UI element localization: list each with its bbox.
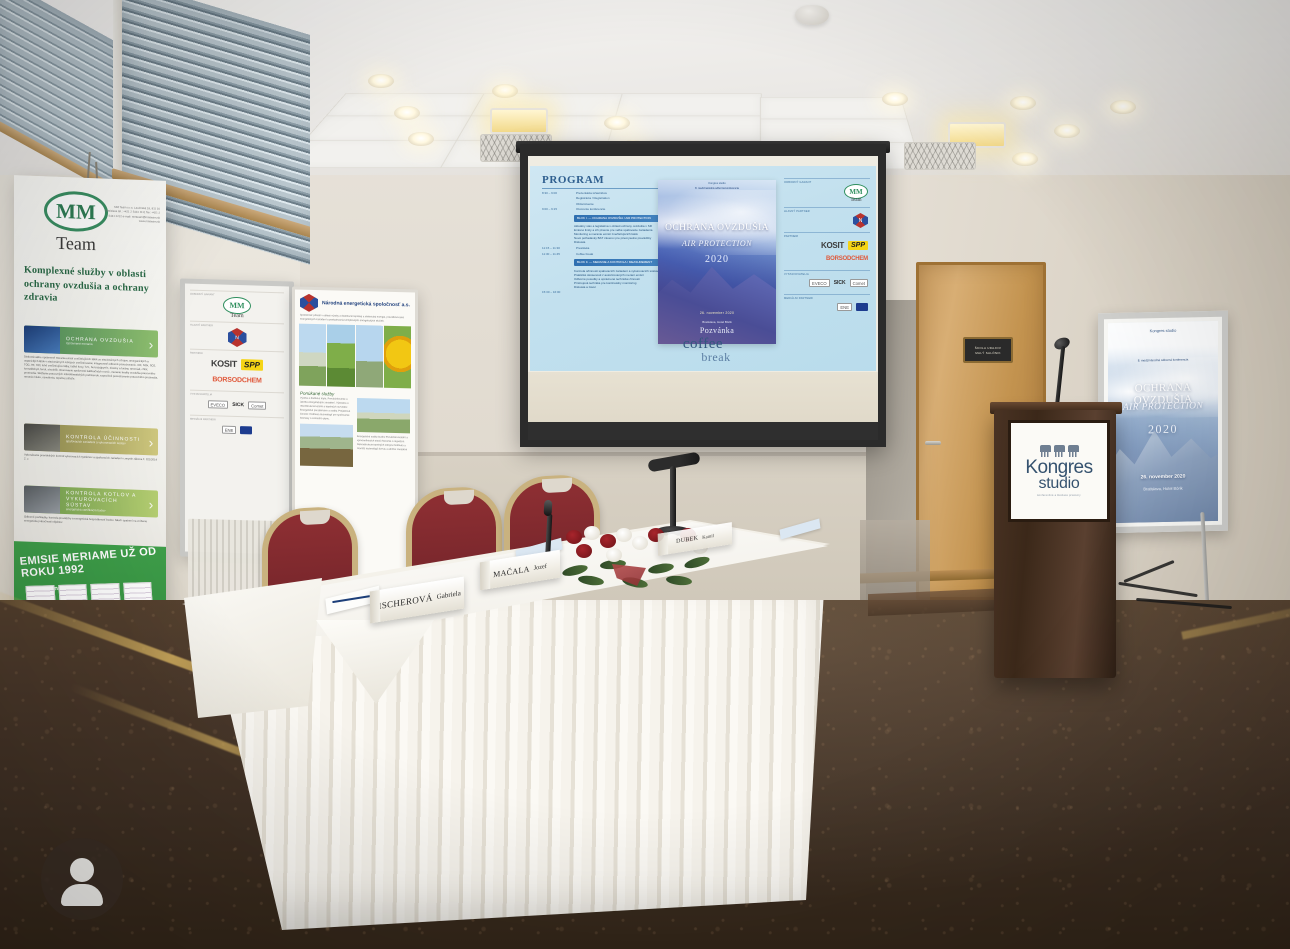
kosit-logo: KOSIT [211,358,237,369]
sponsor-section: MEDIÁLNI PARTNERI ENE [784,294,870,314]
card-fold [370,590,381,623]
ceiling-tile [760,119,915,144]
sponsor-logos: EVECO SICK Comet [784,276,870,290]
mm-logo-word: Team [56,233,96,256]
ceiling-light-panel [490,108,548,134]
program-time: 15:30 – 16:00 [542,291,572,295]
chair-icon [1068,445,1079,457]
name-card-lastname: MAČALA [493,564,530,579]
board-logos: MM Team [190,296,284,321]
chair-back-notch [542,478,572,494]
photo-stack [299,324,326,387]
door-handle[interactable] [925,441,941,445]
sponsor-logos: ENE [784,300,870,314]
banner-section: OCHRANA OVZDUŠIA Oprávnené merania › Dis… [24,325,158,384]
banner-headline: Komplexné služby v oblasti ochrany ovzdu… [24,263,158,309]
nes-columns: Výroba a dodávka tepla. Prevádzkovanie a… [295,397,415,472]
sponsor-section: HLAVNÝ PARTNER N [784,207,870,228]
white-flower [616,528,632,542]
program-time [542,203,572,207]
borsodchem-logo: BORSODCHEM [212,376,261,384]
sponsor-logos: MM Team [784,184,870,203]
section-body: Odborné prehliadky, kontrola prevádzky a… [24,515,158,528]
program-time: 11:15 – 11:30 [542,247,572,251]
person-icon-head [70,858,94,882]
ceiling-spotlight [492,84,518,98]
board-section: ODBORNÝ GARANT MM Team [190,290,284,321]
program-heading: PROGRAM [542,174,604,186]
projection-screen: PROGRAM 8:30 – 9:00 Prezentácia účastník… [528,156,878,440]
leaf [683,555,710,571]
board-logos: ENE [190,421,284,440]
sick-logo: SICK [834,280,846,286]
poster-date: 26. november 2020 [658,311,776,315]
borsodchem-logo: BORSODCHEM [826,256,868,262]
eu-logo [240,426,252,434]
nes-header: Národná energetická spoločnosť a.s. [295,290,415,317]
banner-section-bar: KONTROLA KOTLOV A VYKUROVACÍCH SÚSTAV en… [24,485,158,517]
nes-logo: N [853,213,868,228]
window-mullion [113,0,122,180]
nes-title: Národná energetická spoločnosť a.s. [322,300,410,308]
board-section: HLAVNÝ PARTNER N [190,321,284,349]
door-sign-line-2: MALÝ SALÓNIK [975,351,1001,355]
banner-section: KONTROLA KOTLOV A VYKUROVACÍCH SÚSTAV en… [24,485,158,528]
spp-logo: SPP [241,359,263,371]
photo-plant [356,325,383,388]
red-flower [600,534,616,548]
ceiling-tile [615,94,762,117]
nes-logo [300,294,318,312]
program-time: 11:30 – 11:45 [542,253,572,257]
poster-subheading: 8. medzinárodná odborná konferencia [658,187,776,191]
card-fold [480,561,490,591]
ceiling-spotlight [408,132,434,146]
poster-year: 2020 [658,254,776,265]
door-sign: ŠKOLA UDAJOV MALÝ SALÓNIK [963,337,1013,363]
chair-back-notch [444,490,474,506]
sponsor-section: ODBORNÝ GARANT MM Team [784,178,870,203]
air-vent [904,142,976,170]
screen-bottom-bar [528,422,878,440]
board-logos: N [190,327,284,349]
white-flower [584,526,600,540]
boom-microphone-stem [670,466,676,530]
name-card-firstname: Kamil [702,534,714,541]
name-card-firstname: Gabriela [437,589,461,601]
banner-section: KONTROLA ÚČINNOSTI spaľovacích zariadení… [24,423,158,466]
comet-logo: Comet [850,279,868,287]
mm-team-logo: MM Team [223,297,251,320]
name-card-firstname: Jozef [534,562,547,571]
photo-powerlines [300,424,353,467]
section-body: Diskontinuálne oprávnené merania emisií … [24,355,158,384]
panel-table: FISCHEROVÁ Gabriela MAČALA Jozef DUBEK K… [170,508,850,928]
poster-title-en: AIR PROTECTION [658,239,776,248]
lectern-body: Kongres studio konferenčné a školiace pr… [994,410,1116,678]
eveco-logo: EVECO [208,400,229,409]
ene-logo: ENE [222,426,237,434]
lectern: Kongres studio konferenčné a školiace pr… [992,410,1120,688]
nes-left-column: Výroba a dodávka tepla. Prevádzkovanie a… [300,397,353,470]
board-section: MEDIÁLNI PARTNERI ENE [190,415,284,440]
banner-address: MM Team s.r.o. Laurinská 18, 811 01 Brat… [104,205,160,224]
poster-top-logo: Kongres studio [658,182,776,185]
banner-section-bar: KONTROLA ÚČINNOSTI spaľovacích zariadení… [24,423,158,455]
banner-section-bar: OCHRANA OVZDUŠIA Oprávnené merania › [24,325,158,357]
eu-logo [856,303,868,311]
board-logos: BORSODCHEM [190,371,284,390]
nes-right-column: Energetické audity budov Prevádzka kotol… [357,398,410,471]
nes-logo: N [228,328,247,348]
comet-logo: Comet [248,401,266,410]
ceiling-spotlight [604,116,630,130]
kosit-logo: KOSIT [821,241,844,250]
program-time: 8:30 – 9:00 [542,192,572,196]
program-time: 9:00 – 9:15 [542,208,572,212]
ene-logo: ENE [837,303,852,311]
card-fold [658,532,668,556]
coffee-break-logo: coffee break [530,338,876,362]
section-thumbnail [24,423,60,451]
mm-logo-mark: MM [44,190,108,232]
section-text: KONTROLA ÚČINNOSTI spaľovacích zariadení… [60,433,144,446]
person-icon-body [61,884,103,906]
nes-services-list: Energetické audity budov Prevádzka kotol… [357,435,410,452]
banner-top-section: MM Team MM Team s.r.o. Laurinská 18, 811… [14,175,166,547]
table-cloth-drape [176,578,326,718]
board-section: PARTNERI KOSIT SPP BORSODCHEM [190,349,284,390]
leaf [578,574,605,587]
white-flower [606,548,622,562]
chair-icon [1040,445,1051,457]
sponsor-logos: BORSODCHEM [784,252,870,266]
name-card-lastname: DUBEK [676,535,698,544]
red-flower [566,530,582,544]
slide-sponsor-column: ODBORNÝ GARANT MM Team HLAVNÝ PARTNER N [784,178,870,348]
name-card-lastname: FISCHEROVÁ [373,593,433,612]
poster-top-logo: Kongres studio [1108,327,1218,335]
poster-year: 2020 [1108,421,1218,438]
air-protection-poster: Kongres studio 8. medzinárodná odborná k… [1108,321,1218,523]
red-flower [576,544,592,558]
leaf [647,562,674,575]
profile-avatar-placeholder[interactable] [41,838,123,920]
ceiling-spotlight [1012,152,1038,166]
three-chairs-icon [1040,445,1079,457]
smoke-detector-icon [795,5,829,25]
nes-intro: Spoločnosť pôsobí v oblasti výroby a dis… [295,314,415,325]
sponsor-logos: N [784,213,870,228]
spp-logo: SPP [848,241,868,250]
poster-title-sk: OCHRANA OVZDUŠIA [658,223,776,233]
sponsor-section: VYSTAVOVATELIA EVECO SICK Comet [784,270,870,290]
sick-logo: SICK [232,402,244,408]
ceiling-tile [304,116,473,141]
projected-slide: PROGRAM 8:30 – 9:00 Prezentácia účastník… [530,166,876,371]
poster-place: Bratislava, Hotel Bôrik [658,320,776,324]
leaf [666,575,693,587]
ceiling-spotlight [1110,100,1136,114]
chair-icon [1054,445,1065,457]
ceiling-spotlight [394,106,420,120]
eveco-logo: EVECO [809,279,830,287]
slide-poster-thumbnail: Kongres studio 8. medzinárodná odborná k… [658,180,776,344]
mm-team-logo: MM Team [844,184,868,203]
conference-room-photo: PROGRAM 8:30 – 9:00 Prezentácia účastník… [0,0,1290,949]
board-section: VYSTAVOVATELIA EVECO SICK Comet [190,390,284,415]
section-thumbnail [24,325,60,353]
chevron-right-icon: › [144,337,158,352]
table-microphone-head [544,500,553,516]
brand-line-1: Kongres [1025,459,1092,476]
notepad [780,519,821,540]
chevron-right-icon: › [144,497,158,512]
photo-sunflower [384,326,411,389]
photo-tree [327,324,354,387]
ceiling-spotlight [1054,124,1080,138]
white-flower [632,536,648,550]
ceiling-spotlight [1010,96,1036,110]
section-thumbnail [24,485,60,513]
section-text: KONTROLA KOTLOV A VYKUROVACÍCH SÚSTAV en… [60,489,144,514]
kongres-studio-sign: Kongres studio konferenčné a školiace pr… [1008,420,1110,522]
banner-green-headline: EMISIE MERIAME UŽ OD ROKU 1992 [19,545,166,580]
ceiling-spotlight [368,74,394,88]
photo-tanks [357,398,410,433]
sponsor-section: PARTNERI KOSIT SPP BORSODCHEM [784,232,870,266]
sponsor-logos: KOSIT SPP [784,238,870,252]
break-word: break [556,352,876,363]
ceiling-spotlight [882,92,908,106]
brand-tagline: konferenčné a školiace priestory [1037,494,1081,497]
brand-line-2: studio [1039,476,1080,491]
door-sign-line-1: ŠKOLA UDAJOV [975,346,1001,350]
section-body: Vykonávanie pravidelných kontrol vykurov… [24,453,158,466]
mm-team-logo: MM Team [44,190,108,255]
ceiling-tile [608,116,762,141]
board-logos: EVECO SICK Comet [190,396,284,415]
poster-invitation: Pozvánka [658,326,776,335]
section-text: OCHRANA OVZDUŠIA Oprávnené merania [60,335,144,348]
nes-services-body: Výroba a dodávka tepla. Prevádzkovanie a… [300,397,353,422]
program-time [542,197,572,201]
nes-image-strip [299,324,411,389]
chevron-right-icon: › [144,435,158,450]
